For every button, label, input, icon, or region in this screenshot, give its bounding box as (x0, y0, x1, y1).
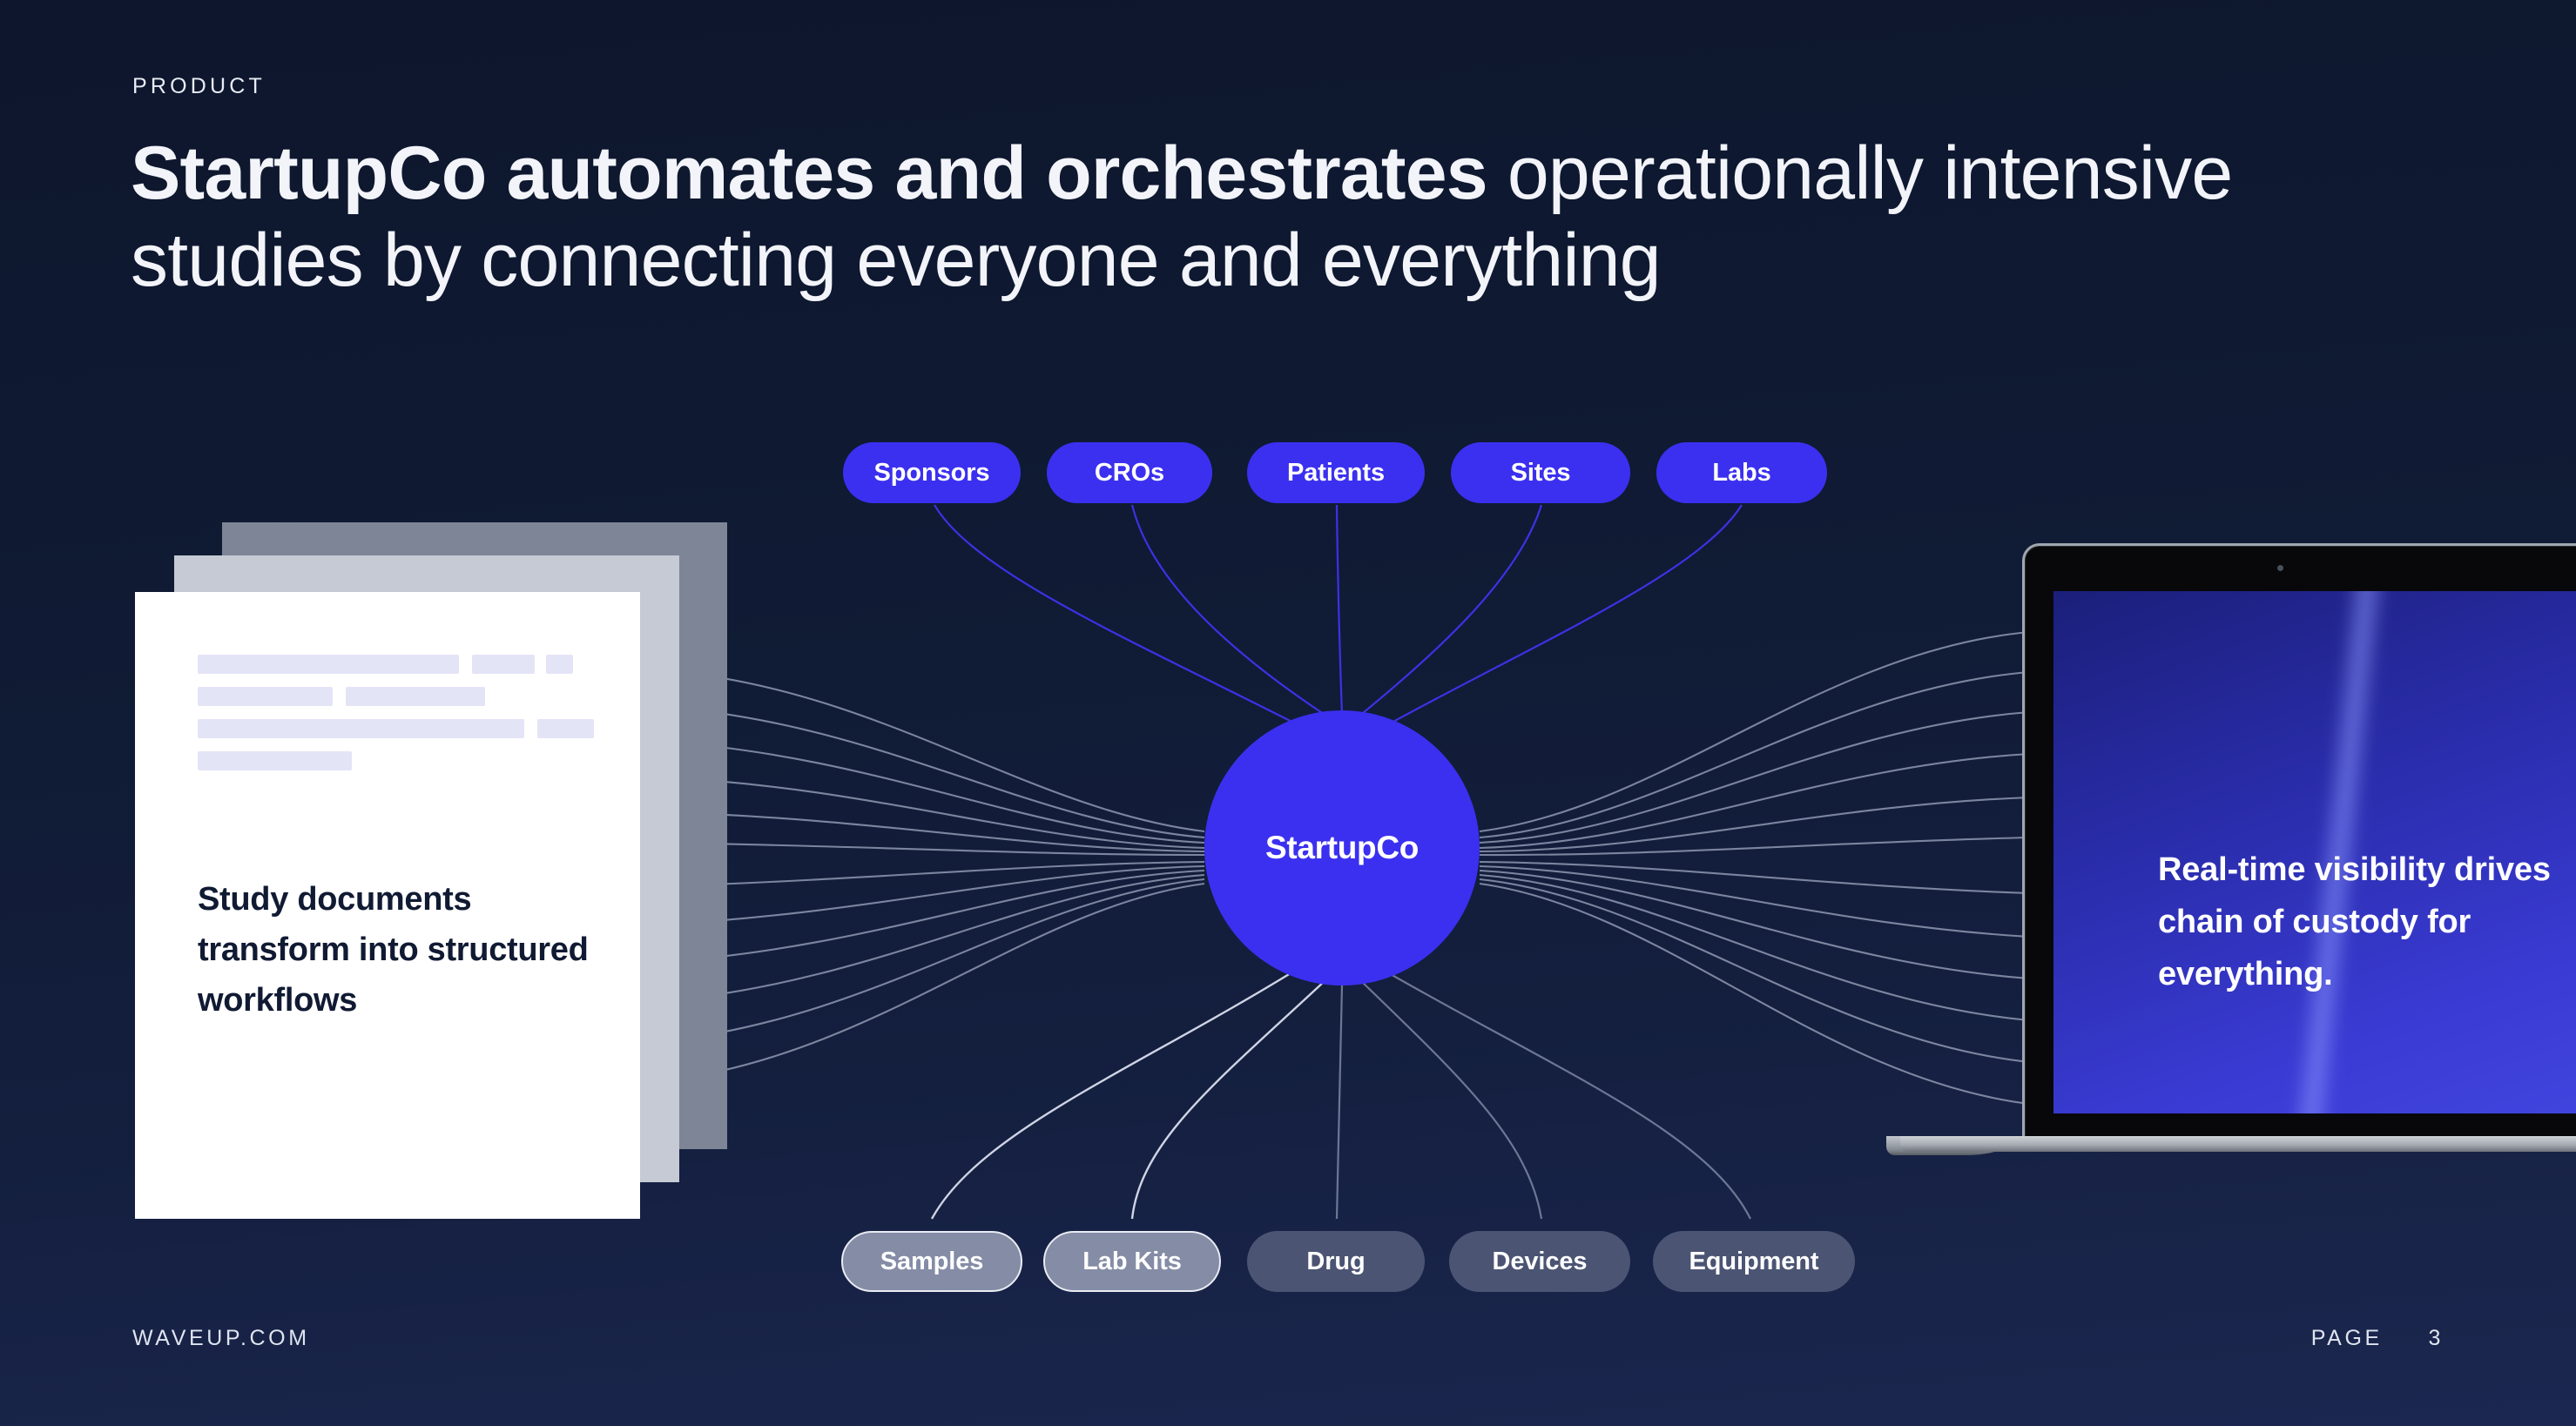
node-pill-cros[interactable]: CROs (1047, 442, 1212, 503)
node-pill-patients[interactable]: Patients (1247, 442, 1425, 503)
node-pill-label: Samples (880, 1248, 984, 1276)
document-placeholder-bar (472, 655, 535, 674)
footer-site-label: WAVEUP.COM (132, 1326, 310, 1351)
document-stack: Study documents transform into structure… (135, 522, 727, 1228)
document-placeholder-bar (198, 655, 459, 674)
document-caption: Study documents transform into structure… (198, 875, 598, 1026)
document-placeholder-bar (546, 655, 573, 674)
laptop-lid: Real-time visibility drives chain of cus… (2022, 543, 2576, 1140)
document-placeholder-bar (346, 687, 485, 706)
document-placeholder-bar (198, 687, 333, 706)
node-pill-label: Patients (1287, 459, 1385, 488)
laptop-screen: Real-time visibility drives chain of cus… (2053, 591, 2576, 1113)
laptop-screen-copy: Real-time visibility drives chain of cus… (2158, 844, 2576, 1000)
document-sheet-front: Study documents transform into structure… (135, 592, 640, 1219)
node-pill-lab-kits[interactable]: Lab Kits (1043, 1231, 1221, 1292)
node-pill-label: Labs (1712, 459, 1770, 488)
node-pill-drug[interactable]: Drug (1247, 1231, 1425, 1292)
node-pill-label: CROs (1095, 459, 1164, 488)
node-pill-labs[interactable]: Labs (1656, 442, 1827, 503)
node-pill-equipment[interactable]: Equipment (1653, 1231, 1855, 1292)
document-placeholder-bar (537, 719, 594, 738)
node-pill-label: Sites (1511, 459, 1571, 488)
slide-canvas: PRODUCT StartupCo automates and orchestr… (0, 0, 2576, 1426)
document-placeholder-bar (198, 751, 352, 770)
node-pill-sites[interactable]: Sites (1451, 442, 1630, 503)
laptop-base (1900, 1136, 2576, 1152)
laptop-mockup: Real-time visibility drives chain of cus… (2022, 543, 2576, 1170)
node-pill-label: Devices (1493, 1248, 1588, 1276)
node-pill-label: Sponsors (874, 459, 990, 488)
node-pill-samples[interactable]: Samples (841, 1231, 1022, 1292)
hub-node[interactable]: StartupCo (1204, 710, 1480, 985)
hub-node-label: StartupCo (1265, 830, 1419, 866)
document-placeholder-bar (198, 719, 524, 738)
node-pill-label: Lab Kits (1082, 1248, 1182, 1276)
footer-page-number: PAGE 3 (2311, 1326, 2444, 1351)
node-pill-label: Equipment (1689, 1248, 1819, 1276)
node-pill-devices[interactable]: Devices (1449, 1231, 1630, 1292)
node-pill-sponsors[interactable]: Sponsors (843, 442, 1021, 503)
node-pill-label: Drug (1306, 1248, 1365, 1276)
webcam-icon (2277, 565, 2283, 571)
